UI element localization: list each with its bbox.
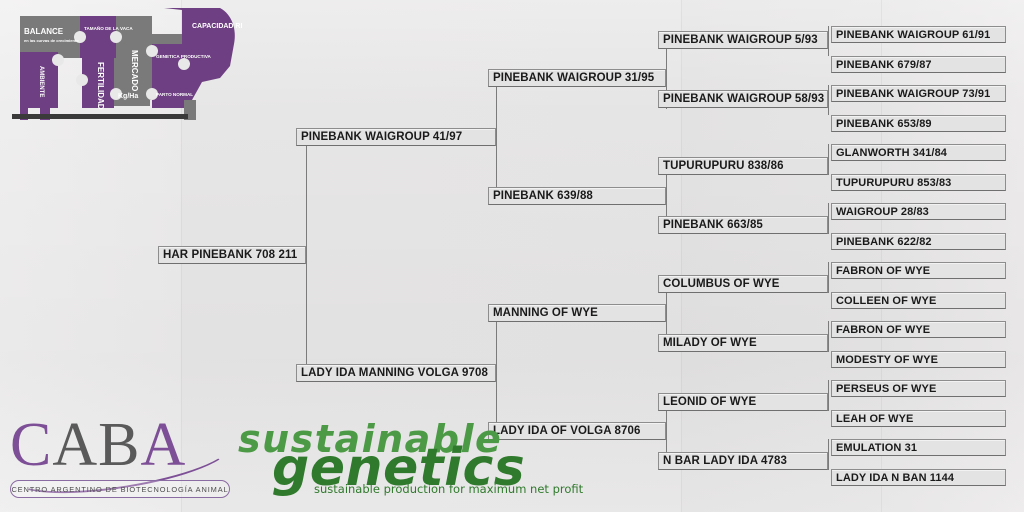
connector-vertical <box>828 262 829 278</box>
connector-vertical <box>828 455 829 470</box>
pedigree-node-gen5-8[interactable]: FABRON OF WYE <box>831 262 1006 279</box>
pedigree-node-gen5-6[interactable]: WAIGROUP 28/83 <box>831 203 1006 220</box>
pedigree-node-gen5-5[interactable]: TUPURUPURU 853/83 <box>831 174 1006 191</box>
pedigree-node-gen5-9[interactable]: COLLEEN OF WYE <box>831 292 1006 309</box>
pedigree-node-gen2-1[interactable]: LADY IDA MANNING VOLGA 9708 <box>296 364 496 382</box>
pedigree-node-gen5-2[interactable]: PINEBANK WAIGROUP 73/91 <box>831 85 1006 102</box>
sg-tagline: sustainable production for maximum net p… <box>314 482 583 496</box>
connector-vertical <box>306 138 307 255</box>
pedigree-node-gen5-1[interactable]: PINEBANK 679/87 <box>831 56 1006 73</box>
pedigree-node-gen5-7[interactable]: PINEBANK 622/82 <box>831 233 1006 250</box>
pedigree-node-gen5-3[interactable]: PINEBANK 653/89 <box>831 115 1006 132</box>
connector-vertical <box>828 144 829 160</box>
connector-vertical <box>828 321 829 337</box>
caba-letter-a1: A <box>52 411 98 479</box>
pedigree-node-gen5-15[interactable]: LADY IDA N BAN 1144 <box>831 469 1006 486</box>
pedigree-screenshot: BALANCE en las curvas de crecimiento TAM… <box>0 0 1024 512</box>
connector-vertical <box>828 219 829 234</box>
pedigree-node-gen4-0[interactable]: PINEBANK WAIGROUP 5/93 <box>658 31 828 49</box>
pedigree-node-gen5-10[interactable]: FABRON OF WYE <box>831 321 1006 338</box>
pedigree-node-gen4-4[interactable]: COLUMBUS OF WYE <box>658 275 828 293</box>
connector-vertical <box>828 380 829 396</box>
connector-vertical <box>828 41 829 56</box>
caba-subtitle: CENTRO ARGENTINO DE BIOTECNOLOGÍA ANIMAL <box>10 480 230 498</box>
connector-vertical <box>496 79 497 138</box>
pedigree-node-gen4-7[interactable]: N BAR LADY IDA 4783 <box>658 452 828 470</box>
pedigree-node-gen4-2[interactable]: TUPURUPURU 838/86 <box>658 157 828 175</box>
pedigree-node-gen3-0[interactable]: PINEBANK WAIGROUP 31/95 <box>488 69 666 87</box>
pedigree-node-gen4-3[interactable]: PINEBANK 663/85 <box>658 216 828 234</box>
pedigree-node-gen4-5[interactable]: MILADY OF WYE <box>658 334 828 352</box>
connector-vertical <box>828 337 829 352</box>
connector-vertical <box>828 100 829 115</box>
pedigree-node-gen5-0[interactable]: PINEBANK WAIGROUP 61/91 <box>831 26 1006 43</box>
caba-letter-b: B <box>98 411 140 479</box>
connector-vertical <box>828 203 829 219</box>
pedigree-node-gen5-11[interactable]: MODESTY OF WYE <box>831 351 1006 368</box>
pedigree-node-gen5-4[interactable]: GLANWORTH 341/84 <box>831 144 1006 161</box>
sustainable-genetics-logo: sustainable genetics sustainable product… <box>236 420 586 496</box>
connector-vertical <box>828 396 829 411</box>
connector-vertical <box>306 255 307 378</box>
pedigree-node-gen4-1[interactable]: PINEBANK WAIGROUP 58/93 <box>658 90 828 108</box>
pedigree-node-gen3-1[interactable]: PINEBANK 639/88 <box>488 187 666 205</box>
pedigree-node-gen3-2[interactable]: MANNING OF WYE <box>488 304 666 322</box>
connector-vertical <box>828 439 829 455</box>
connector-vertical <box>828 85 829 100</box>
pedigree-node-gen1-0[interactable]: HAR PINEBANK 708 211 <box>158 246 306 264</box>
caba-letter-a2: A <box>141 411 187 479</box>
connector-vertical <box>828 26 829 41</box>
connector-vertical <box>496 314 497 374</box>
caba-wordmark: CABA <box>10 414 186 476</box>
pedigree-node-gen5-12[interactable]: PERSEUS OF WYE <box>831 380 1006 397</box>
pedigree-node-gen5-13[interactable]: LEAH OF WYE <box>831 410 1006 427</box>
connector-vertical <box>828 160 829 175</box>
connector-vertical <box>828 278 829 293</box>
pedigree-node-gen2-0[interactable]: PINEBANK WAIGROUP 41/97 <box>296 128 496 146</box>
caba-letter-c: C <box>10 411 52 479</box>
caba-logo: CABA CENTRO ARGENTINO DE BIOTECNOLOGÍA A… <box>8 418 236 502</box>
pedigree-node-gen4-6[interactable]: LEONID OF WYE <box>658 393 828 411</box>
pedigree-node-gen5-14[interactable]: EMULATION 31 <box>831 439 1006 456</box>
